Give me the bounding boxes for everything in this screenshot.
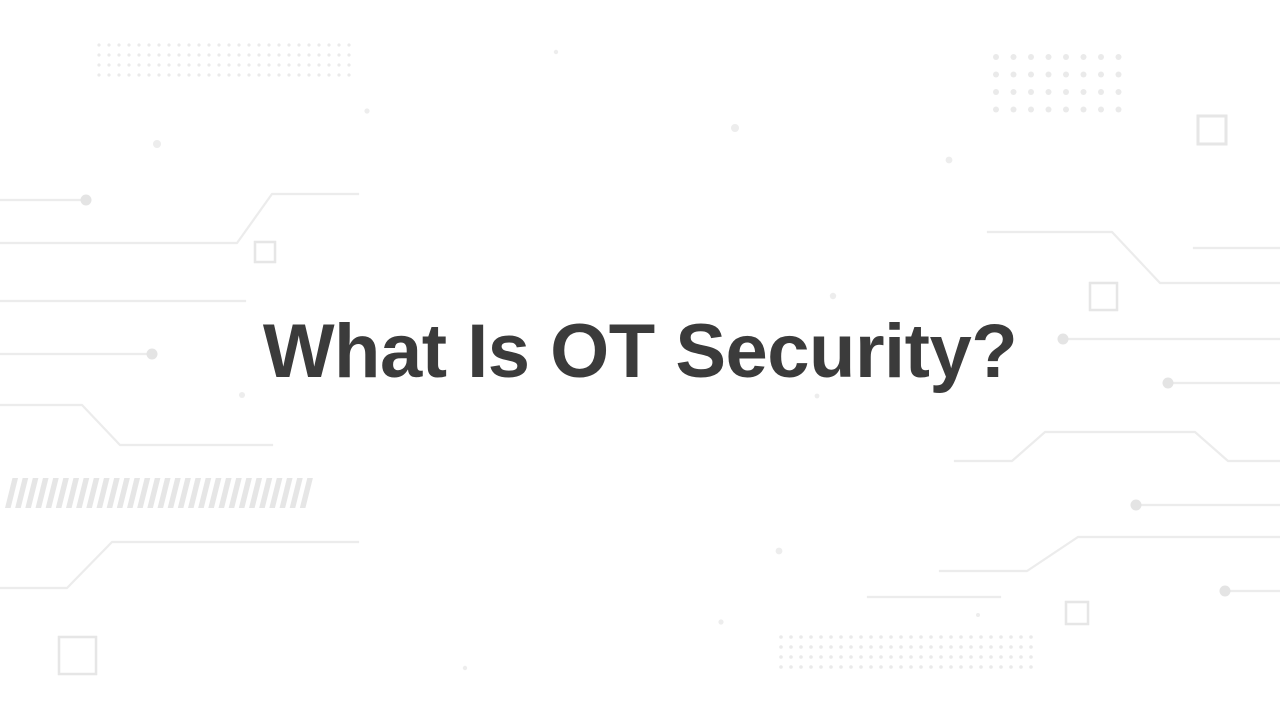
title-container: What Is OT Security? [0, 0, 1280, 720]
page-title: What Is OT Security? [263, 314, 1017, 390]
slide-root: What Is OT Security? [0, 0, 1280, 720]
